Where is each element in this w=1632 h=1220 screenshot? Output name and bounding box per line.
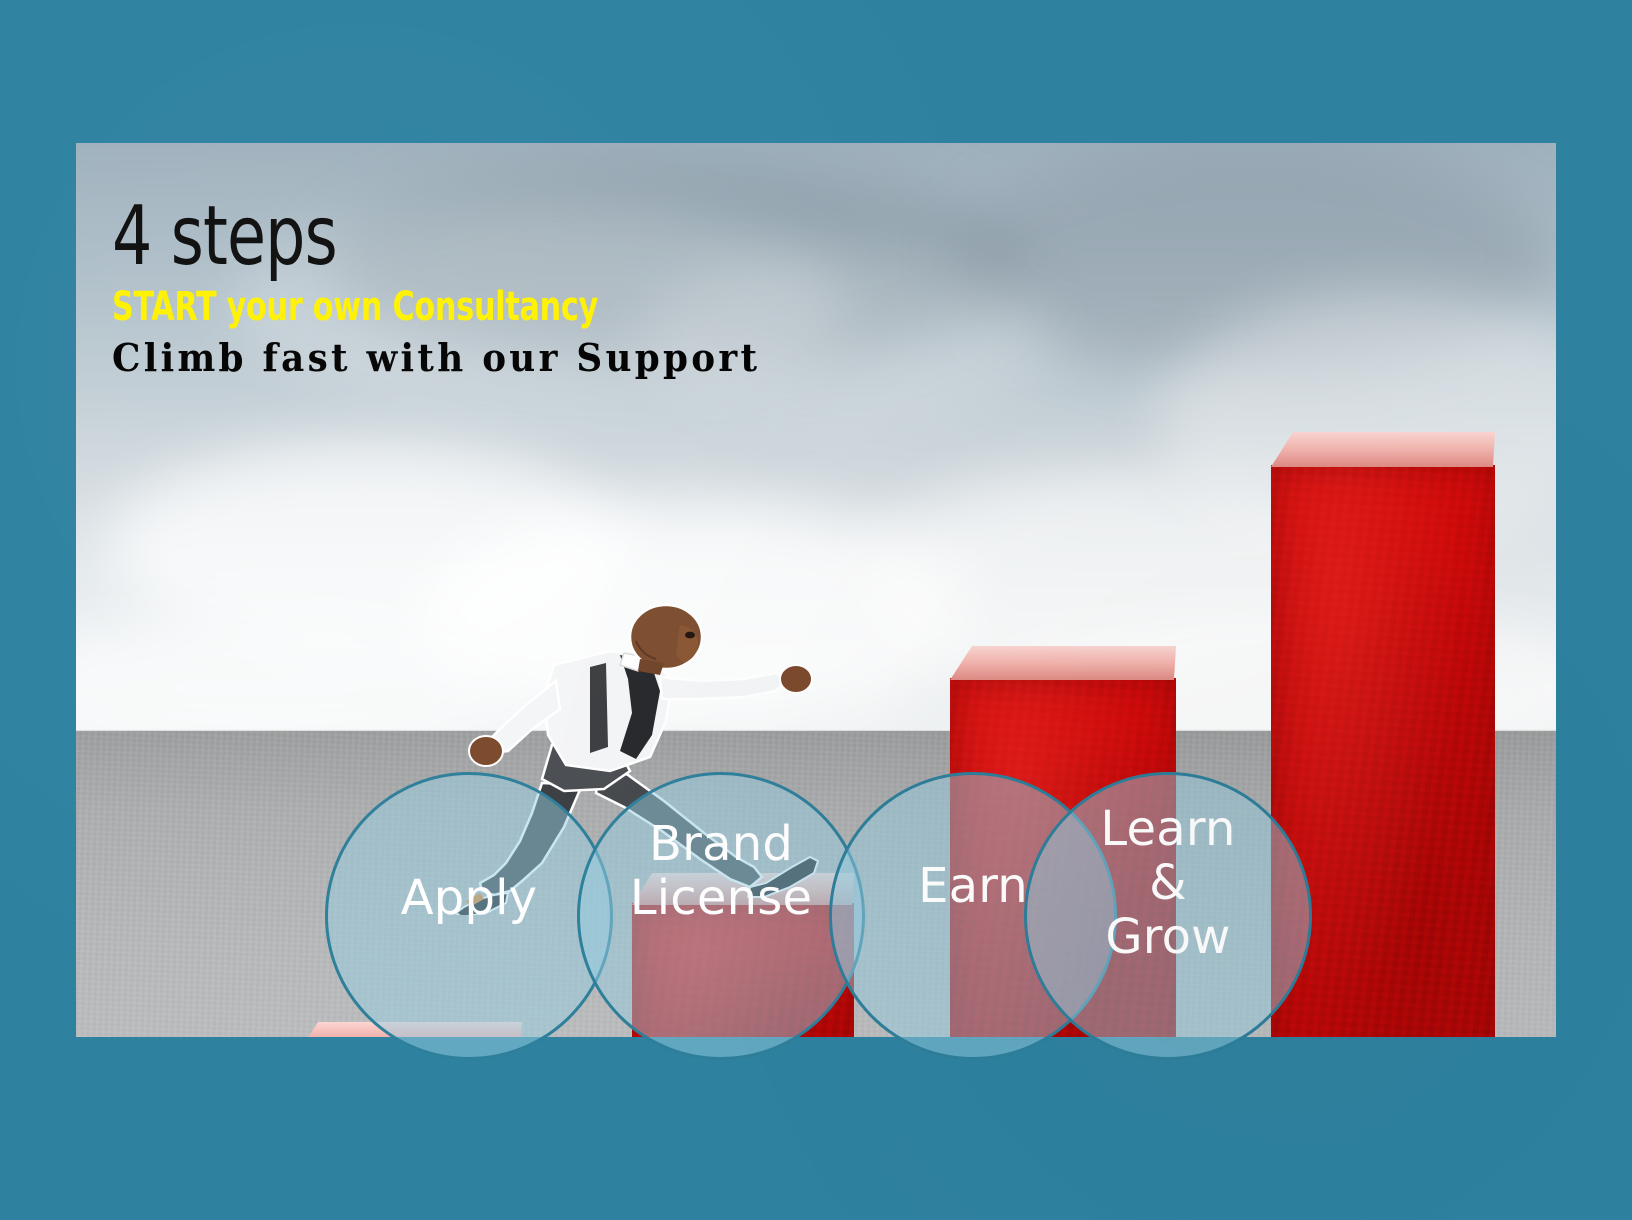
bar-top-face [1271, 432, 1495, 467]
step-label-brand-license: Brand License [577, 818, 865, 926]
headline-subtitle: START your own Consultancy [112, 287, 868, 327]
slide-canvas: Apply Brand License Earn Learn & Grow 4 … [0, 0, 1632, 1220]
headline-tagline: Climb fast with our Support [112, 339, 958, 377]
step-label-learn-grow: Learn & Grow [1024, 803, 1312, 964]
bar-top-face [950, 646, 1176, 680]
step-label-apply: Apply [325, 872, 613, 926]
headline-block: 4 steps START your own Consultancy Climb… [112, 197, 1012, 377]
page-title: 4 steps [112, 197, 886, 277]
